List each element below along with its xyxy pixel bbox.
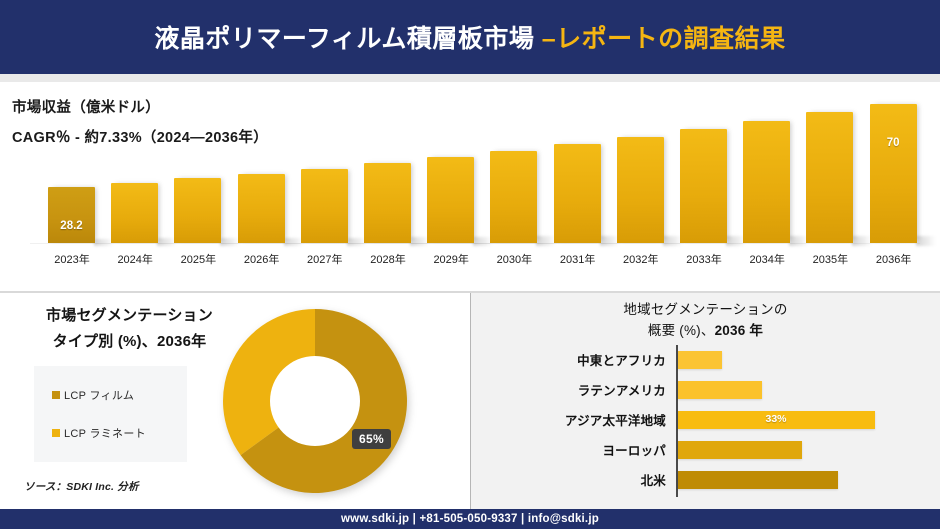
region-segmentation-panel: 地域セグメンテーションの 概要 (%)、2036 年 中東とアフリカラテンアメリ…	[471, 293, 940, 509]
type-segmentation-title-line2: タイプ別 (%)、2036年	[22, 329, 237, 355]
page-title: 液晶ポリマーフィルム積層板市場 –レポートの調査結果	[154, 19, 785, 55]
region-bar-row: 中東とアフリカ	[471, 345, 940, 375]
revenue-bar-group: 2028年	[364, 82, 411, 291]
revenue-axis-label: 2026年	[229, 251, 295, 267]
donut-hole	[270, 356, 360, 446]
revenue-bar	[617, 137, 664, 243]
revenue-bar-group: 2032年	[617, 82, 664, 291]
revenue-bar	[680, 129, 727, 243]
revenue-axis-label: 2031年	[545, 251, 611, 267]
legend-swatch-icon	[52, 391, 60, 399]
revenue-bar	[364, 163, 411, 243]
page-title-main: 液晶ポリマーフィルム積層板市場	[154, 25, 541, 53]
revenue-bar-value: 70	[870, 137, 917, 149]
legend-item-lcp-laminate[interactable]: LCP ラミネート	[52, 425, 187, 441]
region-bar-label: ヨーロッパ	[476, 440, 666, 459]
region-segmentation-title-line1: 地域セグメンテーションの	[471, 299, 940, 320]
revenue-axis-label: 2028年	[355, 251, 421, 267]
infographic-page: 液晶ポリマーフィルム積層板市場 –レポートの調査結果 市場収益（億米ドル） CA…	[0, 0, 940, 529]
revenue-bar-group: 2031年	[554, 82, 601, 291]
type-segmentation-legend: LCP フィルム LCP ラミネート	[34, 366, 187, 462]
revenue-bar-group: 2024年	[111, 82, 158, 291]
revenue-bar	[174, 178, 221, 243]
revenue-chart-plot: 28.22023年2024年2025年2026年2027年2028年2029年2…	[0, 82, 940, 291]
region-bar[interactable]	[678, 471, 838, 489]
revenue-bar	[301, 169, 348, 243]
region-bar-label: アジア太平洋地域	[476, 410, 666, 429]
revenue-bar	[743, 121, 790, 243]
revenue-axis-label: 2025年	[165, 251, 231, 267]
revenue-bar-group: 2034年	[743, 82, 790, 291]
region-bar-label: 中東とアフリカ	[476, 350, 666, 369]
revenue-bar-group: 2029年	[427, 82, 474, 291]
legend-label: LCP フィルム	[64, 387, 134, 403]
revenue-bar	[111, 183, 158, 243]
revenue-chart-section: 市場収益（億米ドル） CAGR％ - 約7.33%（2024―2036年） 28…	[0, 82, 940, 291]
revenue-axis-label: 2029年	[418, 251, 484, 267]
page-title-accent: –レポートの調査結果	[542, 25, 786, 53]
header-underline	[0, 74, 940, 82]
revenue-bar-group: 2030年	[490, 82, 537, 291]
revenue-bar-shadow	[916, 236, 936, 246]
region-bar[interactable]	[678, 441, 802, 459]
donut-value-badge: 65%	[352, 429, 391, 449]
region-bar-row: 北米	[471, 465, 940, 495]
revenue-bar	[554, 144, 601, 243]
region-bar-label: 北米	[476, 470, 666, 489]
revenue-axis-label: 2032年	[608, 251, 674, 267]
revenue-bar	[48, 187, 95, 243]
revenue-axis-label: 2036年	[861, 251, 927, 267]
revenue-axis-label: 2030年	[481, 251, 547, 267]
revenue-axis-label: 2035年	[797, 251, 863, 267]
donut-chart-svg	[215, 301, 415, 501]
revenue-bar-group: 2026年	[238, 82, 285, 291]
revenue-bar-group: 28.22023年	[48, 82, 95, 291]
revenue-bar	[870, 104, 917, 243]
region-bar-row: アジア太平洋地域33%	[471, 405, 940, 435]
legend-label: LCP ラミネート	[64, 425, 146, 441]
region-chart-plot: 中東とアフリカラテンアメリカアジア太平洋地域33%ヨーロッパ北米	[471, 343, 940, 503]
revenue-bar	[806, 112, 853, 243]
revenue-bar-group: 2025年	[174, 82, 221, 291]
revenue-bar-group: 2033年	[680, 82, 727, 291]
donut-chart: 65%	[215, 301, 415, 501]
region-bar-row: ラテンアメリカ	[471, 375, 940, 405]
region-bar[interactable]	[678, 381, 762, 399]
revenue-bar	[490, 151, 537, 243]
revenue-axis-label: 2024年	[102, 251, 168, 267]
revenue-bar-value: 28.2	[48, 220, 95, 232]
region-segmentation-title-line2: 概要 (%)、2036 年	[471, 320, 940, 341]
revenue-bar	[427, 157, 474, 243]
revenue-bar-group: 2027年	[301, 82, 348, 291]
revenue-bar	[238, 174, 285, 243]
revenue-axis-label: 2023年	[39, 251, 105, 267]
region-segmentation-title: 地域セグメンテーションの 概要 (%)、2036 年	[471, 299, 940, 341]
source-note: ソース：SDKI Inc. 分析	[24, 479, 139, 494]
region-bar-value: 33%	[766, 413, 787, 425]
footer-contact-text: www.sdki.jp | +81-505-050-9337 | info@sd…	[341, 513, 599, 525]
region-bar-label: ラテンアメリカ	[476, 380, 666, 399]
revenue-axis-label: 2027年	[292, 251, 358, 267]
region-bar-row: ヨーロッパ	[471, 435, 940, 465]
legend-swatch-icon	[52, 429, 60, 437]
revenue-bar-group: 2035年	[806, 82, 853, 291]
page-header: 液晶ポリマーフィルム積層板市場 –レポートの調査結果	[0, 0, 940, 74]
type-segmentation-title: 市場セグメンテーション タイプ別 (%)、2036年	[22, 303, 237, 355]
page-footer: www.sdki.jp | +81-505-050-9337 | info@sd…	[0, 509, 940, 529]
type-segmentation-panel: 市場セグメンテーション タイプ別 (%)、2036年 LCP フィルム LCP …	[0, 293, 470, 509]
revenue-axis-label: 2033年	[671, 251, 737, 267]
legend-item-lcp-film[interactable]: LCP フィルム	[52, 387, 187, 403]
revenue-axis-label: 2034年	[734, 251, 800, 267]
region-bar[interactable]	[678, 351, 722, 369]
region-title-part-a: 概要 (%)、	[648, 323, 715, 338]
region-title-part-b: 2036 年	[715, 323, 763, 338]
type-segmentation-title-line1: 市場セグメンテーション	[22, 303, 237, 329]
revenue-bar-group: 702036年	[870, 82, 917, 291]
